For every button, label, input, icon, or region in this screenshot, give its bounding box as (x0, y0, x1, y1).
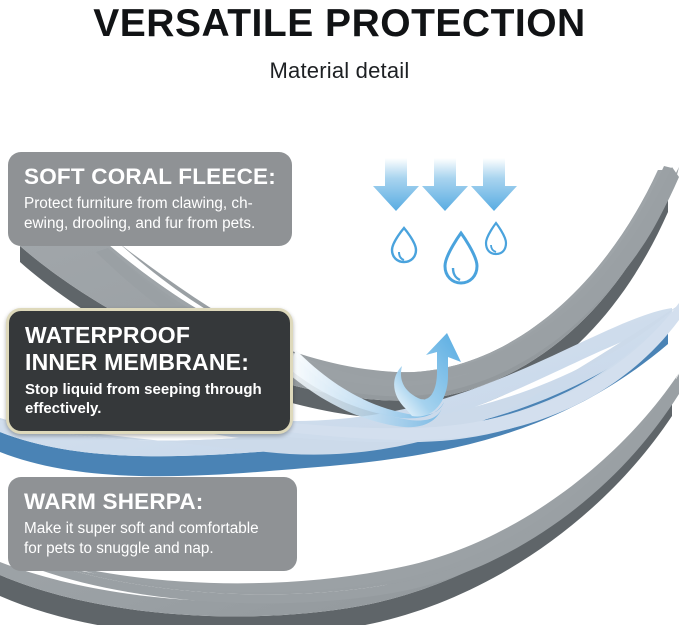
water-droplet-icon (392, 228, 416, 262)
callout-body-warm-sherpa: Make it super soft and comfortable for p… (24, 515, 281, 558)
poster-header: VERSATILE PROTECTION Material detail (0, 0, 679, 86)
callout-body-waterproof-inner-membrane: Stop liquid from seeping through effecti… (25, 376, 274, 418)
droplet-highlight-icon (399, 252, 404, 260)
water-droplet-icon (445, 233, 477, 283)
water-droplet-icon (486, 223, 506, 254)
callout-title-soft-coral-fleece: SOFT CORAL FLEECE: (24, 163, 276, 190)
infographic-poster: VERSATILE PROTECTION Material detail SOF… (0, 0, 679, 625)
water-droplets-group (392, 223, 506, 283)
callout-card-waterproof-inner-membrane[interactable]: WATERPROOF INNER MEMBRANE: Stop liquid f… (6, 308, 293, 434)
down-arrow-icon (422, 158, 468, 211)
callout-body-soft-coral-fleece: Protect furniture from clawing, ch- ewin… (24, 190, 276, 233)
callout-card-soft-coral-fleece[interactable]: SOFT CORAL FLEECE: Protect furniture fro… (8, 152, 292, 246)
down-arrow-icon (373, 158, 419, 211)
callout-card-warm-sherpa[interactable]: WARM SHERPA: Make it super soft and comf… (8, 477, 297, 571)
down-arrow-icon (471, 158, 517, 211)
callout-title-waterproof-inner-membrane: WATERPROOF INNER MEMBRANE: (25, 322, 274, 376)
page-subtitle: Material detail (0, 46, 679, 86)
page-title: VERSATILE PROTECTION (0, 0, 679, 46)
callout-title-warm-sherpa: WARM SHERPA: (24, 488, 281, 515)
droplet-highlight-icon (453, 268, 460, 280)
droplet-highlight-icon (491, 245, 496, 252)
down-arrows-group (373, 158, 517, 211)
